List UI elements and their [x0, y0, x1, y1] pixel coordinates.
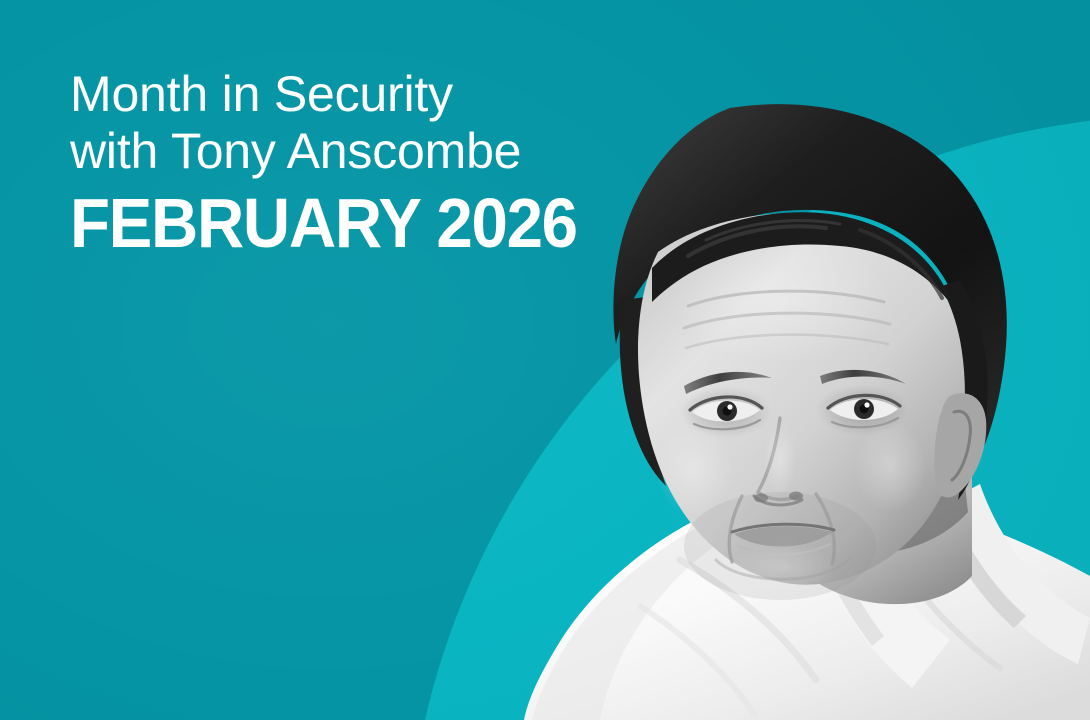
headline-block: Month in Security with Tony Anscombe FEB… [70, 66, 612, 260]
headline-line-2: with Tony Anscombe [70, 123, 612, 180]
edition-title: FEBRUARY 2026 [70, 186, 577, 260]
headline-line-1: Month in Security [70, 66, 612, 123]
security-month-banner: Month in Security with Tony Anscombe FEB… [0, 0, 1090, 720]
